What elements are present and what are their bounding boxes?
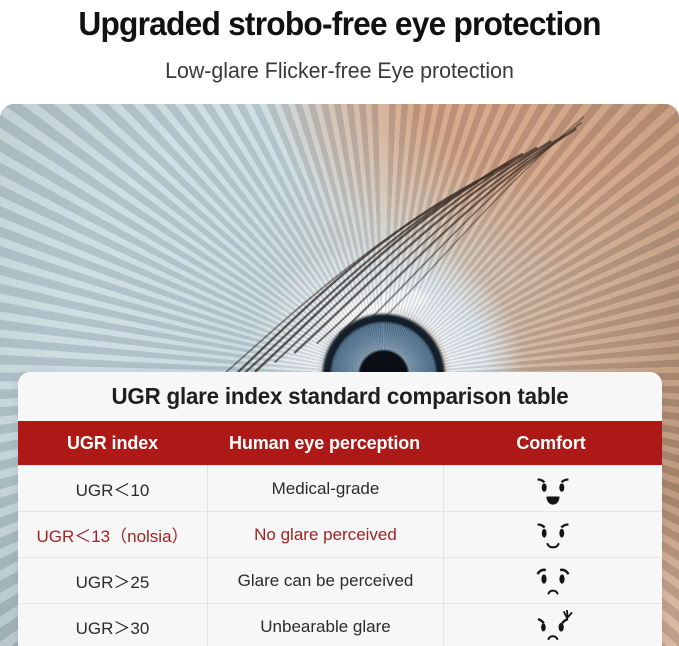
worried-frown-face-icon [527, 564, 579, 598]
column-header-human-eye-perception: Human eye perception [207, 421, 442, 465]
ugr-comparison-table: UGR glare index standard comparison tabl… [18, 372, 662, 646]
content-smile-face-icon [527, 518, 579, 552]
cell-ugr-index: UGR＞25 [18, 558, 207, 603]
table-header-row: UGR index Human eye perception Comfort [18, 421, 662, 465]
table-row: UGR＜10 Medical-grade [18, 465, 662, 511]
cell-ugr-index: UGR＜10 [18, 466, 207, 511]
cell-ugr-index: UGR＞30 [18, 604, 207, 646]
angry-frown-face-icon [527, 610, 579, 644]
anger-mark-icon [564, 610, 572, 617]
cell-human-eye-perception: Glare can be perceived [207, 558, 444, 603]
cell-human-eye-perception: Unbearable glare [207, 604, 444, 646]
page-title: Upgraded strobo-free eye protection [14, 2, 666, 44]
cell-comfort [444, 558, 662, 603]
column-header-ugr-index: UGR index [18, 421, 207, 465]
table-row: UGR＞25 Glare can be perceived [18, 557, 662, 603]
table-title: UGR glare index standard comparison tabl… [28, 372, 653, 421]
cell-human-eye-perception: Medical-grade [207, 466, 444, 511]
table-row: UGR＜13（nolsia） No glare perceived [18, 511, 662, 557]
page-subtitle: Low-glare Flicker-free Eye protection [10, 44, 669, 86]
cell-ugr-index: UGR＜13（nolsia） [18, 512, 207, 557]
page-headings: Upgraded strobo-free eye protection Low-… [0, 0, 679, 86]
cell-comfort [444, 466, 662, 511]
table-row: UGR＞30 Unbearable glare [18, 603, 662, 646]
happy-open-smile-face-icon [527, 472, 579, 506]
cell-comfort [444, 512, 662, 557]
column-header-comfort: Comfort [442, 421, 660, 465]
cell-comfort [444, 604, 662, 646]
cell-human-eye-perception: No glare perceived [207, 512, 444, 557]
